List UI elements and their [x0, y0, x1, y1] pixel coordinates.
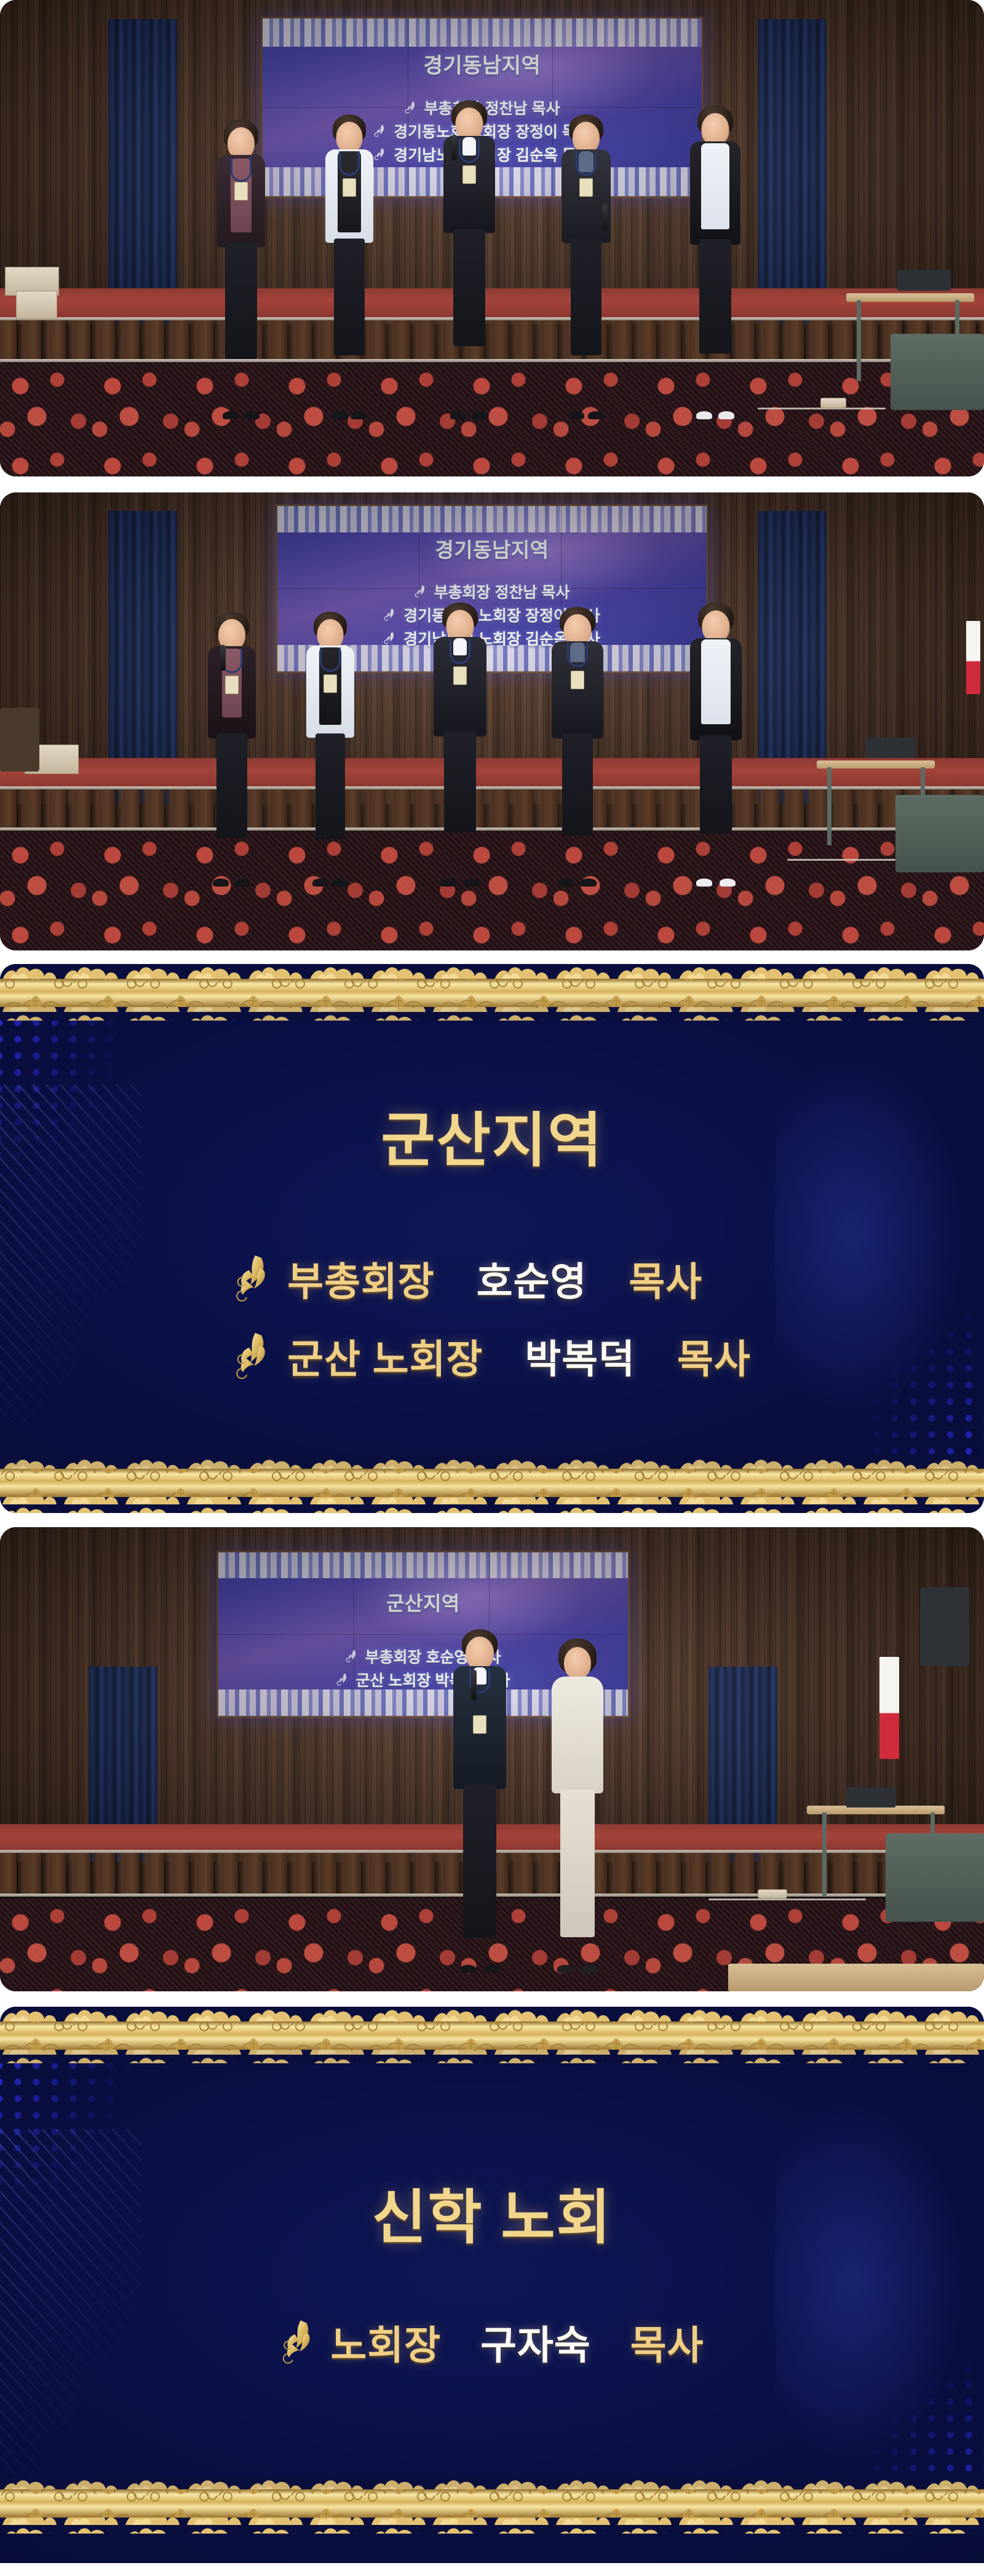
floor-carpet	[0, 831, 984, 950]
slide-line: 군산 노회장 박복덕 목사	[233, 1328, 751, 1385]
flourish-icon	[374, 147, 387, 162]
flourish-icon	[336, 1672, 350, 1687]
slide-line: 부총회장 호순영 목사	[233, 1250, 702, 1307]
ornament-band-svg	[0, 964, 984, 1021]
ornament-band-svg	[0, 2477, 984, 2534]
equipment-rack	[886, 1833, 984, 1921]
av-desk	[817, 761, 935, 768]
microphone	[471, 1670, 477, 1701]
slide-line-tail: 목사	[677, 1328, 751, 1385]
led-ornament-band-top	[277, 506, 707, 532]
led-region-title: 경기동남지역	[263, 49, 702, 79]
slide-content: 신학 노회 노회장 구자숙	[0, 2063, 984, 2477]
gold-ornamental-border-bottom	[0, 1456, 984, 1513]
led-region-title: 경기동남지역	[277, 534, 707, 563]
flourish-icon	[384, 631, 397, 646]
slide-line-lead: 부총회장	[287, 1250, 435, 1307]
person-figure	[689, 603, 743, 887]
stage-curtain-right	[758, 19, 827, 324]
photo-gunsan-interview: 군산지역 부총회장 호순영 목사	[0, 1527, 984, 1991]
slide-line-name: 호순영	[477, 1250, 587, 1307]
slide-line-lead: 노회장	[330, 2314, 441, 2371]
equipment-rack	[895, 795, 984, 873]
gold-ornamental-border-bottom	[0, 2477, 984, 2534]
cardboard-box	[16, 291, 57, 320]
slide-line-lead: 군산 노회장	[287, 1328, 483, 1385]
korean-flag	[966, 621, 980, 694]
speaker-cabinet	[920, 1587, 969, 1666]
slide-line-tail: 목사	[629, 1250, 702, 1307]
led-line-text: 부총회장 정찬남 목사	[434, 580, 570, 603]
slide-region-title: 군산지역	[381, 1092, 603, 1178]
person-figure	[305, 612, 355, 887]
ornament-band-svg	[0, 1456, 984, 1513]
flourish-icon	[280, 2318, 317, 2367]
person-figure	[207, 612, 257, 887]
slide-stack: 경기동남지역 부총회장 정찬남 목사	[0, 0, 984, 2563]
microphone	[602, 204, 608, 230]
led-line: 부총회장 정찬남 목사	[415, 580, 570, 603]
ornament-band-svg	[0, 2007, 984, 2063]
power-strip	[820, 398, 846, 408]
slide-sinhak: 신학 노회 노회장 구자숙	[0, 2007, 984, 2563]
person-figure	[433, 603, 487, 887]
stage-riser-face	[0, 788, 984, 829]
microphone	[220, 645, 226, 671]
laptop	[897, 270, 950, 291]
laptop	[866, 738, 915, 758]
flourish-icon	[405, 100, 418, 115]
flourish-icon	[233, 1253, 272, 1305]
power-strip	[758, 1889, 787, 1898]
person-figure-youth	[551, 1638, 604, 1973]
microphone	[451, 135, 457, 160]
podium	[0, 708, 39, 772]
led-ornament-band-top	[263, 18, 702, 47]
slide-line-list: 부총회장 호순영 목사	[233, 1250, 751, 1385]
gold-ornamental-border-top	[0, 2007, 984, 2063]
equipment-rack	[891, 334, 984, 410]
person-figure	[216, 119, 266, 419]
slide-line: 노회장 구자숙 목사	[280, 2314, 704, 2371]
front-table	[728, 1964, 984, 1991]
photo-gyeonggi-dongnam-greeting: 경기동남지역 부총회장 정찬남 목사	[0, 492, 984, 950]
gold-ornamental-border-top	[0, 964, 984, 1021]
slide-line-list: 노회장 구자숙 목사	[280, 2314, 704, 2371]
slide-region-title: 신학 노회	[372, 2170, 612, 2255]
flourish-icon	[415, 584, 428, 599]
laptop	[846, 1787, 895, 1808]
person-figure	[689, 105, 742, 420]
person-figure-speaker	[453, 1629, 507, 1973]
slide-gunsan: 군산지역	[0, 964, 984, 1513]
stage-curtain-left	[108, 19, 177, 324]
flourish-icon	[374, 124, 387, 138]
slide-content: 군산지역	[0, 1021, 984, 1456]
flourish-icon	[346, 1649, 359, 1664]
slide-line-name: 구자숙	[480, 2314, 591, 2371]
led-region-title: 군산지역	[218, 1588, 628, 1616]
led-ornament-band-top	[218, 1552, 628, 1579]
person-figure-speaker	[443, 100, 496, 419]
person-figure	[325, 114, 374, 419]
korean-flag	[879, 1657, 899, 1759]
flourish-icon	[384, 607, 397, 622]
person-figure	[551, 607, 604, 886]
photo-gyeonggi-dongnam-group: 경기동남지역 부총회장 정찬남 목사	[0, 0, 984, 476]
slide-line-tail: 목사	[630, 2314, 704, 2371]
person-figure	[561, 114, 611, 419]
flourish-icon	[233, 1330, 272, 1382]
slide-line-name: 박복덕	[525, 1328, 635, 1385]
